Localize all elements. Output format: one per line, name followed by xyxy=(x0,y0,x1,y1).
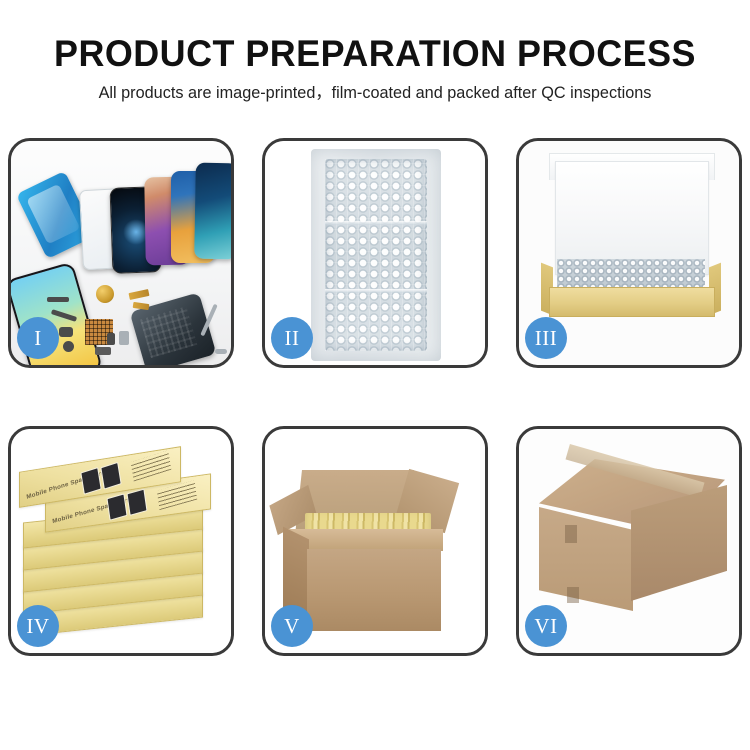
page-title: PRODUCT PREPARATION PROCESS xyxy=(11,33,739,75)
step-2-illustration: II xyxy=(265,141,485,365)
inner-box-front-wall xyxy=(549,287,715,317)
step-badge-4: IV xyxy=(17,605,59,647)
step-badge-5: V xyxy=(271,605,313,647)
bubble-wrap-seam-top xyxy=(325,221,427,225)
part-screws-group xyxy=(215,349,227,354)
bubble-wrap-bubbles xyxy=(325,159,427,351)
part-earpiece-mesh xyxy=(95,347,111,355)
page-subtitle: All products are image-printed，film-coat… xyxy=(6,83,745,103)
phone-display-teal xyxy=(194,163,231,260)
process-step-panel-1: I xyxy=(8,138,234,368)
part-speaker-coil xyxy=(96,285,114,303)
step-4-illustration: Mobile Phone Spare Parts Mobile Phone Sp… xyxy=(11,429,231,653)
step-badge-2: II xyxy=(271,317,313,359)
step-6-illustration: VI xyxy=(519,429,739,653)
part-battery-cell xyxy=(119,331,129,345)
step-badge-6: VI xyxy=(525,605,567,647)
step-badge-3: III xyxy=(525,317,567,359)
carton-seam-vertical xyxy=(565,525,577,543)
process-step-grid: I II III xyxy=(8,138,742,656)
carton-seam-lower xyxy=(567,587,579,603)
carton-front-face xyxy=(307,549,441,631)
step-5-illustration: V xyxy=(265,429,485,653)
step-3-illustration: III xyxy=(519,141,739,365)
part-vibration-motor xyxy=(63,341,74,352)
part-connector-strip xyxy=(47,297,69,302)
bubble-wrap-seam-bottom xyxy=(325,289,427,293)
step-badge-1: I xyxy=(17,317,59,359)
process-step-panel-2: II xyxy=(262,138,488,368)
inner-box-lid xyxy=(555,161,709,275)
inner-box-bubble-contents xyxy=(557,259,705,289)
part-sim-tray xyxy=(107,333,115,345)
process-step-panel-6: VI xyxy=(516,426,742,656)
page-header: PRODUCT PREPARATION PROCESS All products… xyxy=(0,0,750,103)
bubble-wrap-sheet xyxy=(311,149,441,361)
step-1-illustration: I xyxy=(11,141,231,365)
process-step-panel-3: III xyxy=(516,138,742,368)
process-step-panel-5: V xyxy=(262,426,488,656)
part-camera-module xyxy=(59,327,73,337)
process-step-panel-4: Mobile Phone Spare Parts Mobile Phone Sp… xyxy=(8,426,234,656)
